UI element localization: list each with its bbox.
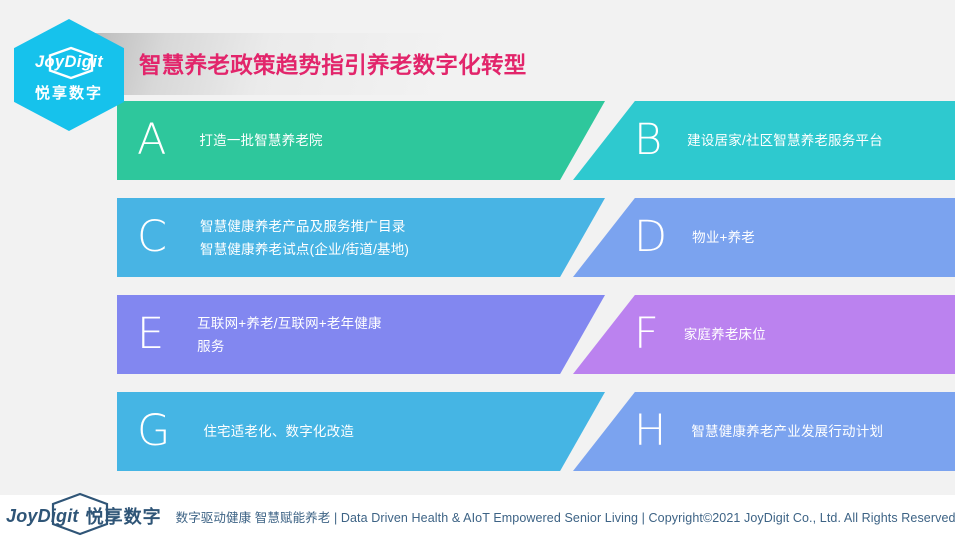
policy-item-g[interactable]: G 住宅适老化、数字化改造 [117, 392, 605, 471]
policy-item-h[interactable]: H 智慧健康养老产业发展行动计划 [573, 392, 955, 471]
policy-text-b: 建设居家/社区智慧养老服务平台 [687, 129, 883, 152]
slide-canvas: 智慧养老政策趋势指引养老数字化转型 JoyDigit 悦享数字 A 打造一批智慧… [0, 0, 955, 537]
bar-row: G 住宅适老化、数字化改造 H 智慧健康养老产业发展行动计划 [0, 392, 955, 471]
policy-text-d: 物业+养老 [692, 226, 755, 249]
policy-letter-c: C [137, 216, 167, 259]
policy-item-f[interactable]: F 家庭养老床位 [573, 295, 955, 374]
policy-text-g: 住宅适老化、数字化改造 [203, 420, 354, 443]
policy-letter-g: G [137, 410, 170, 453]
footer-tagline: 数字驱动健康 智慧赋能养老 | Data Driven Health & AIo… [176, 507, 955, 526]
policy-bars: A 打造一批智慧养老院 B 建设居家/社区智慧养老服务平台 C 智慧健康养老产品… [0, 0, 955, 490]
header-logo-wordmark: JoyDigit [35, 53, 103, 72]
policy-letter-a: A [137, 119, 166, 162]
policy-text-a: 打造一批智慧养老院 [199, 129, 322, 152]
policy-text-c: 智慧健康养老产品及服务推广目录 智慧健康养老试点(企业/街道/基地) [200, 215, 409, 261]
policy-item-b[interactable]: B 建设居家/社区智慧养老服务平台 [573, 101, 955, 180]
footer-logo-wordmark: JoyDigit [6, 506, 79, 527]
policy-text-e: 互联网+养老/互联网+老年健康 服务 [197, 312, 382, 358]
policy-letter-f: F [634, 313, 659, 356]
header-logo-mark: JoyDigit [33, 48, 105, 78]
bar-row: A 打造一批智慧养老院 B 建设居家/社区智慧养老服务平台 [0, 101, 955, 180]
policy-letter-d: D [634, 216, 667, 259]
policy-letter-b: B [634, 119, 662, 162]
bar-row: C 智慧健康养老产品及服务推广目录 智慧健康养老试点(企业/街道/基地) D 物… [0, 198, 955, 277]
footer-logo: JoyDigit 悦享数字 [6, 503, 162, 529]
policy-item-e[interactable]: E 互联网+养老/互联网+老年健康 服务 [117, 295, 605, 374]
policy-letter-h: H [634, 410, 666, 453]
policy-letter-e: E [137, 313, 164, 356]
bar-row: E 互联网+养老/互联网+老年健康 服务 F 家庭养老床位 [0, 295, 955, 374]
policy-text-f: 家庭养老床位 [684, 323, 766, 346]
policy-item-c[interactable]: C 智慧健康养老产品及服务推广目录 智慧健康养老试点(企业/街道/基地) [117, 198, 605, 277]
footer: JoyDigit 悦享数字 数字驱动健康 智慧赋能养老 | Data Drive… [0, 495, 955, 537]
policy-item-a[interactable]: A 打造一批智慧养老院 [117, 101, 605, 180]
header-logo-chinese: 悦享数字 [35, 82, 103, 103]
policy-item-d[interactable]: D 物业+养老 [573, 198, 955, 277]
policy-text-h: 智慧健康养老产业发展行动计划 [691, 420, 883, 443]
